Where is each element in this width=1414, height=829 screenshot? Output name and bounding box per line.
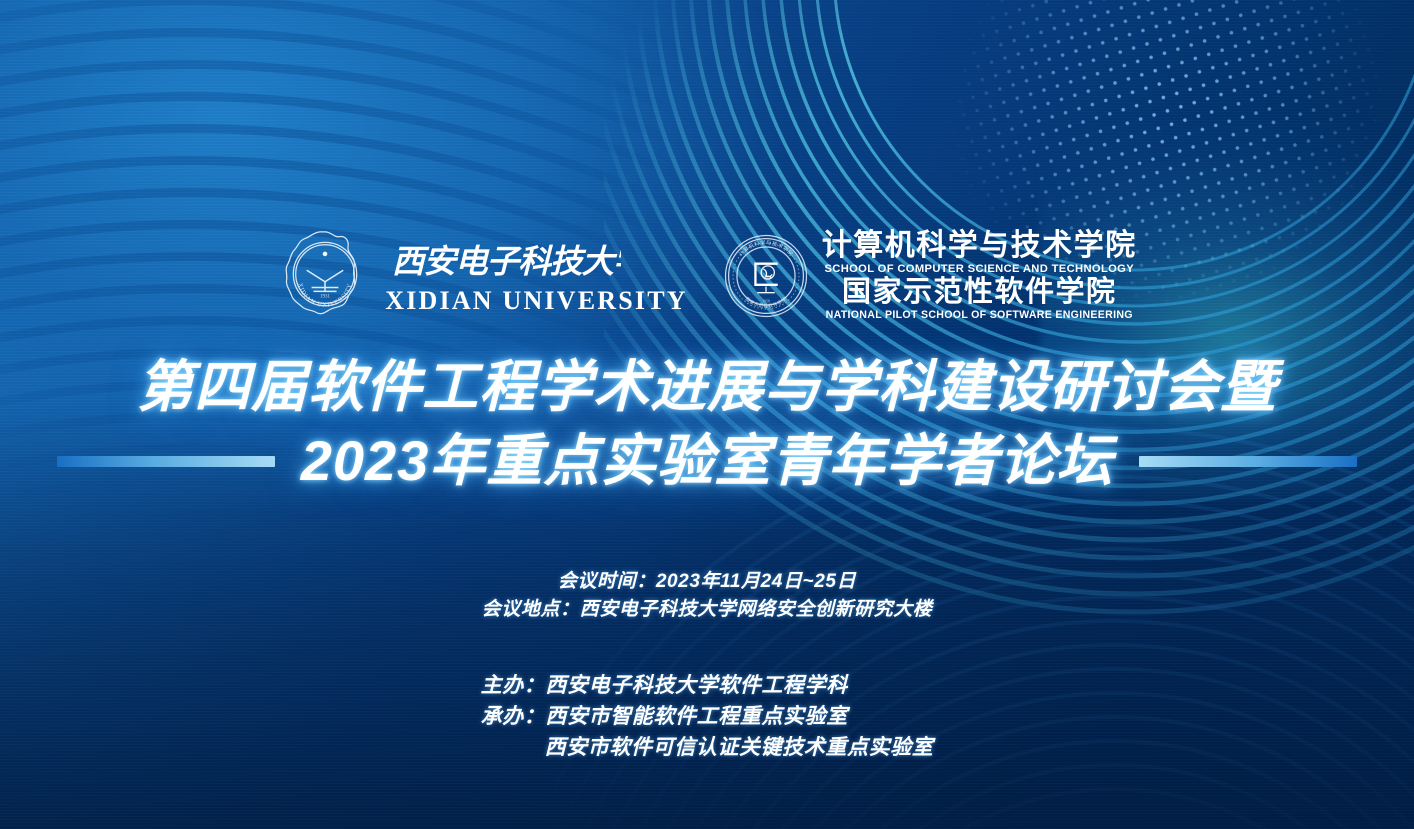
computer-science-school-seal-icon: 计算机科学与技术学院 国家示范性软件学院 1958: [722, 232, 810, 320]
xidian-wordmark: 西安电子科技大学 XIDIAN UNIVERSITY: [385, 238, 688, 314]
conference-place: 会议地点：西安电子科技大学网络安全创新研究大楼: [0, 596, 1414, 624]
title-rule-left-icon: [57, 456, 275, 467]
poster-title: 第四届软件工程学术进展与学科建设研讨会暨 2023年重点实验室青年学者论坛: [0, 350, 1414, 498]
title-line-2: 2023年重点实验室青年学者论坛: [301, 424, 1114, 498]
conference-meta: 会议时间：2023年11月24日~25日 会议地点：西安电子科技大学网络安全创新…: [0, 568, 1414, 624]
xidian-chinese-name-calligraphy: 西安电子科技大学: [385, 238, 621, 284]
title-line-1: 第四届软件工程学术进展与学科建设研讨会暨: [0, 350, 1414, 424]
computer-science-school-logo: 计算机科学与技术学院 国家示范性软件学院 1958 计算机科学与技术学院 SCH…: [722, 231, 1137, 321]
cs-school-name-en: SCHOOL OF COMPUTER SCIENCE AND TECHNOLOG…: [824, 264, 1134, 275]
xidian-university-logo: 1931 XIDIAN UNIVERSITY 西安电子科技大学 XIDIAN U…: [277, 228, 688, 324]
organizer-co-host-2: 西安市软件可信认证关键技术重点实验室: [481, 732, 934, 763]
title-rule-right-icon: [1139, 456, 1357, 467]
xidian-english-name: XIDIAN UNIVERSITY: [385, 288, 688, 314]
organizer-host: 主办：西安电子科技大学软件工程学科: [481, 670, 934, 701]
title-line-2-row: 2023年重点实验室青年学者论坛: [0, 424, 1414, 498]
organizer-block: 主办：西安电子科技大学软件工程学科 承办：西安市智能软件工程重点实验室 西安市软…: [0, 670, 1414, 763]
conference-poster: 1931 XIDIAN UNIVERSITY 西安电子科技大学 XIDIAN U…: [0, 0, 1414, 829]
logo-row: 1931 XIDIAN UNIVERSITY 西安电子科技大学 XIDIAN U…: [0, 228, 1414, 324]
computer-science-school-wordmark: 计算机科学与技术学院 SCHOOL OF COMPUTER SCIENCE AN…: [822, 231, 1137, 321]
xidian-university-seal-icon: 1931 XIDIAN UNIVERSITY: [277, 228, 373, 324]
organizer-co-host: 承办：西安市智能软件工程重点实验室: [481, 701, 934, 732]
software-school-name-cn: 国家示范性软件学院: [842, 278, 1117, 307]
svg-text:1931: 1931: [320, 295, 330, 300]
svg-text:1958: 1958: [762, 299, 770, 303]
cs-school-name-cn: 计算机科学与技术学院: [822, 231, 1137, 261]
software-school-name-en: NATIONAL PILOT SCHOOL OF SOFTWARE ENGINE…: [826, 310, 1133, 321]
svg-text:西安电子科技大学: 西安电子科技大学: [392, 244, 621, 281]
conference-time: 会议时间：2023年11月24日~25日: [0, 568, 1414, 596]
